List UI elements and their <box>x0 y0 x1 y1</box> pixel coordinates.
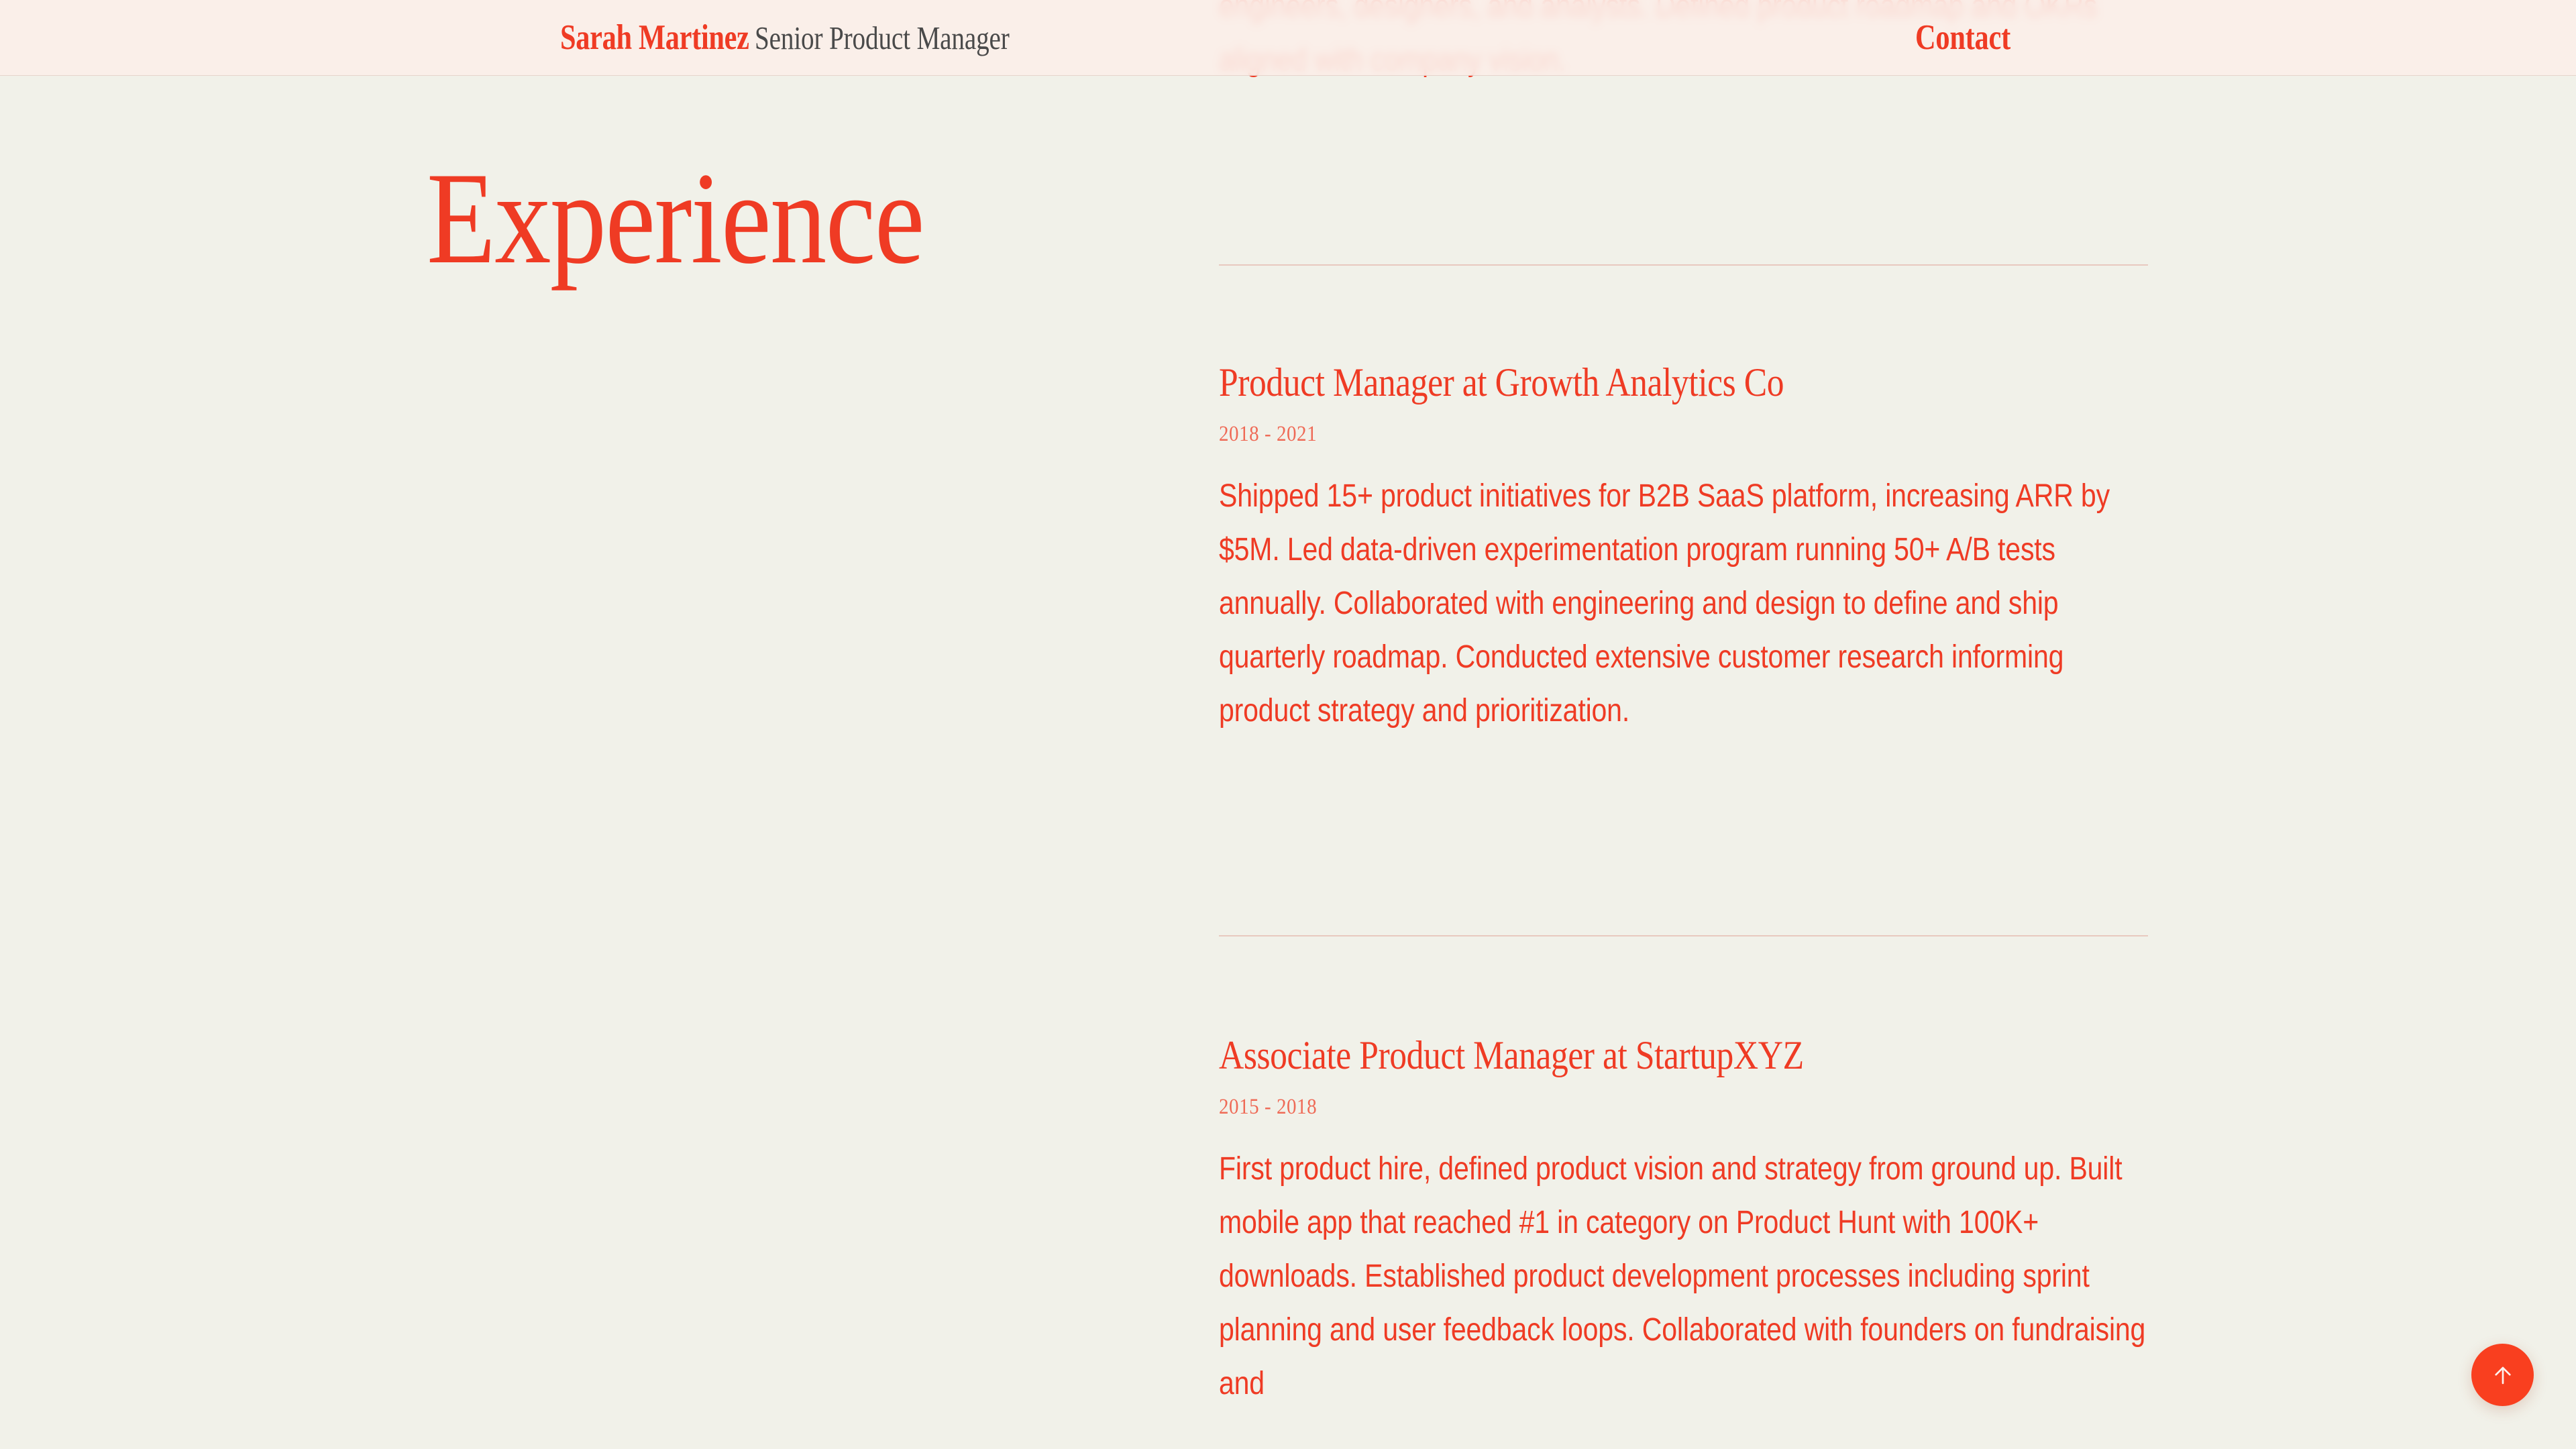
nav-link-contact[interactable]: Contact <box>1915 0 2010 76</box>
brand-name: Sarah Martinez <box>560 20 749 56</box>
experience-entry: Product Manager at Growth Analytics Co 2… <box>1219 360 2148 739</box>
experience-role-title: Associate Product Manager at StartupXYZ <box>1219 1033 2018 1078</box>
section-divider <box>1219 264 2148 266</box>
brand[interactable]: Sarah Martinez Senior Product Manager <box>560 0 1073 76</box>
page-root: Experience engineers, designers, and ana… <box>0 0 2576 1449</box>
experience-entry: Associate Product Manager at StartupXYZ … <box>1219 1033 2148 1411</box>
arrow-up-icon <box>2490 1362 2516 1388</box>
section-divider <box>1219 935 2148 936</box>
scroll-to-top-button[interactable] <box>2471 1344 2534 1406</box>
brand-role: Senior Product Manager <box>755 21 1010 54</box>
experience-date-range: 2018 - 2021 <box>1219 421 2037 448</box>
experience-role-title: Product Manager at Growth Analytics Co <box>1219 360 2018 405</box>
page-title: Experience <box>427 153 924 284</box>
site-header: Sarah Martinez Senior Product Manager <box>0 0 2576 76</box>
experience-description: First product hire, defined product visi… <box>1219 1142 2148 1411</box>
experience-date-range: 2015 - 2018 <box>1219 1094 2037 1121</box>
experience-description: Shipped 15+ product initiatives for B2B … <box>1219 470 2148 739</box>
